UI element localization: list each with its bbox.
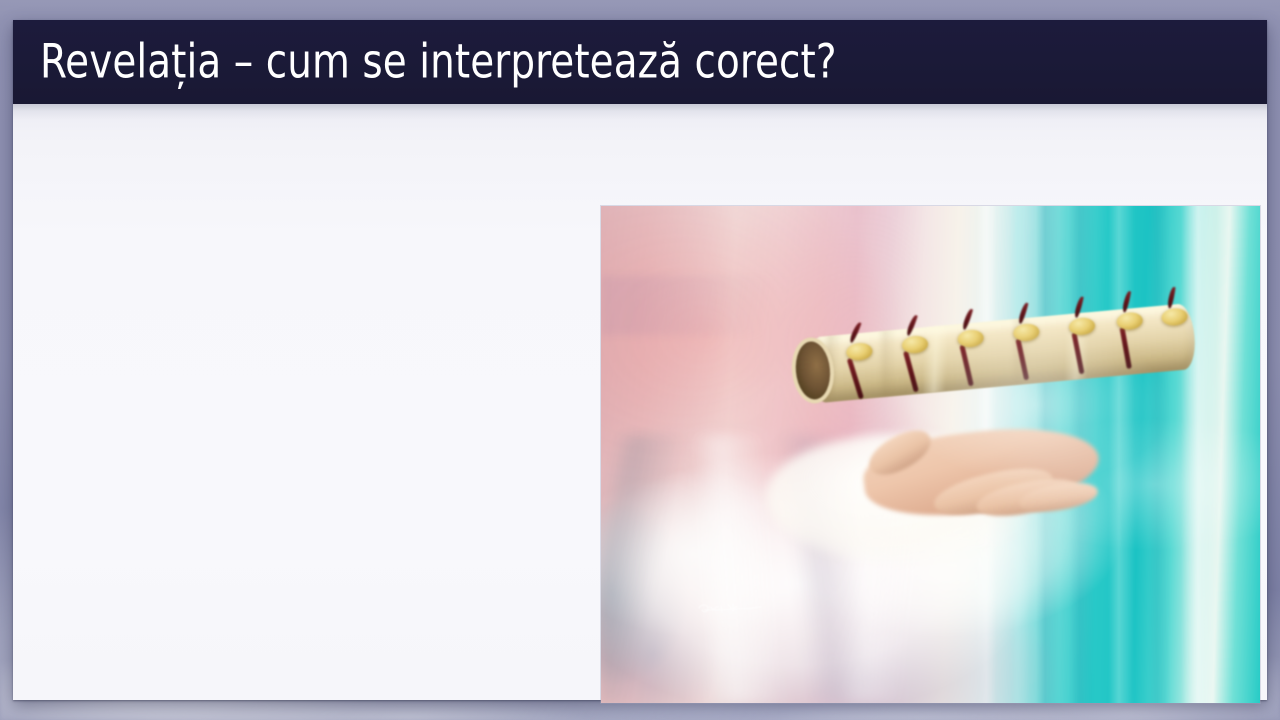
- slide-surface: Revelația – cum se interpretează corect?: [13, 20, 1267, 700]
- artist-signature: [695, 601, 791, 617]
- presentation-canvas: Revelația – cum se interpretează corect?: [0, 0, 1280, 720]
- slide-title-bar: Revelația – cum se interpretează corect?: [13, 20, 1267, 104]
- slide-content-area: [13, 104, 1267, 700]
- page-title: Revelația – cum se interpretează corect?: [40, 37, 837, 86]
- scroll-painting-image[interactable]: [601, 206, 1260, 703]
